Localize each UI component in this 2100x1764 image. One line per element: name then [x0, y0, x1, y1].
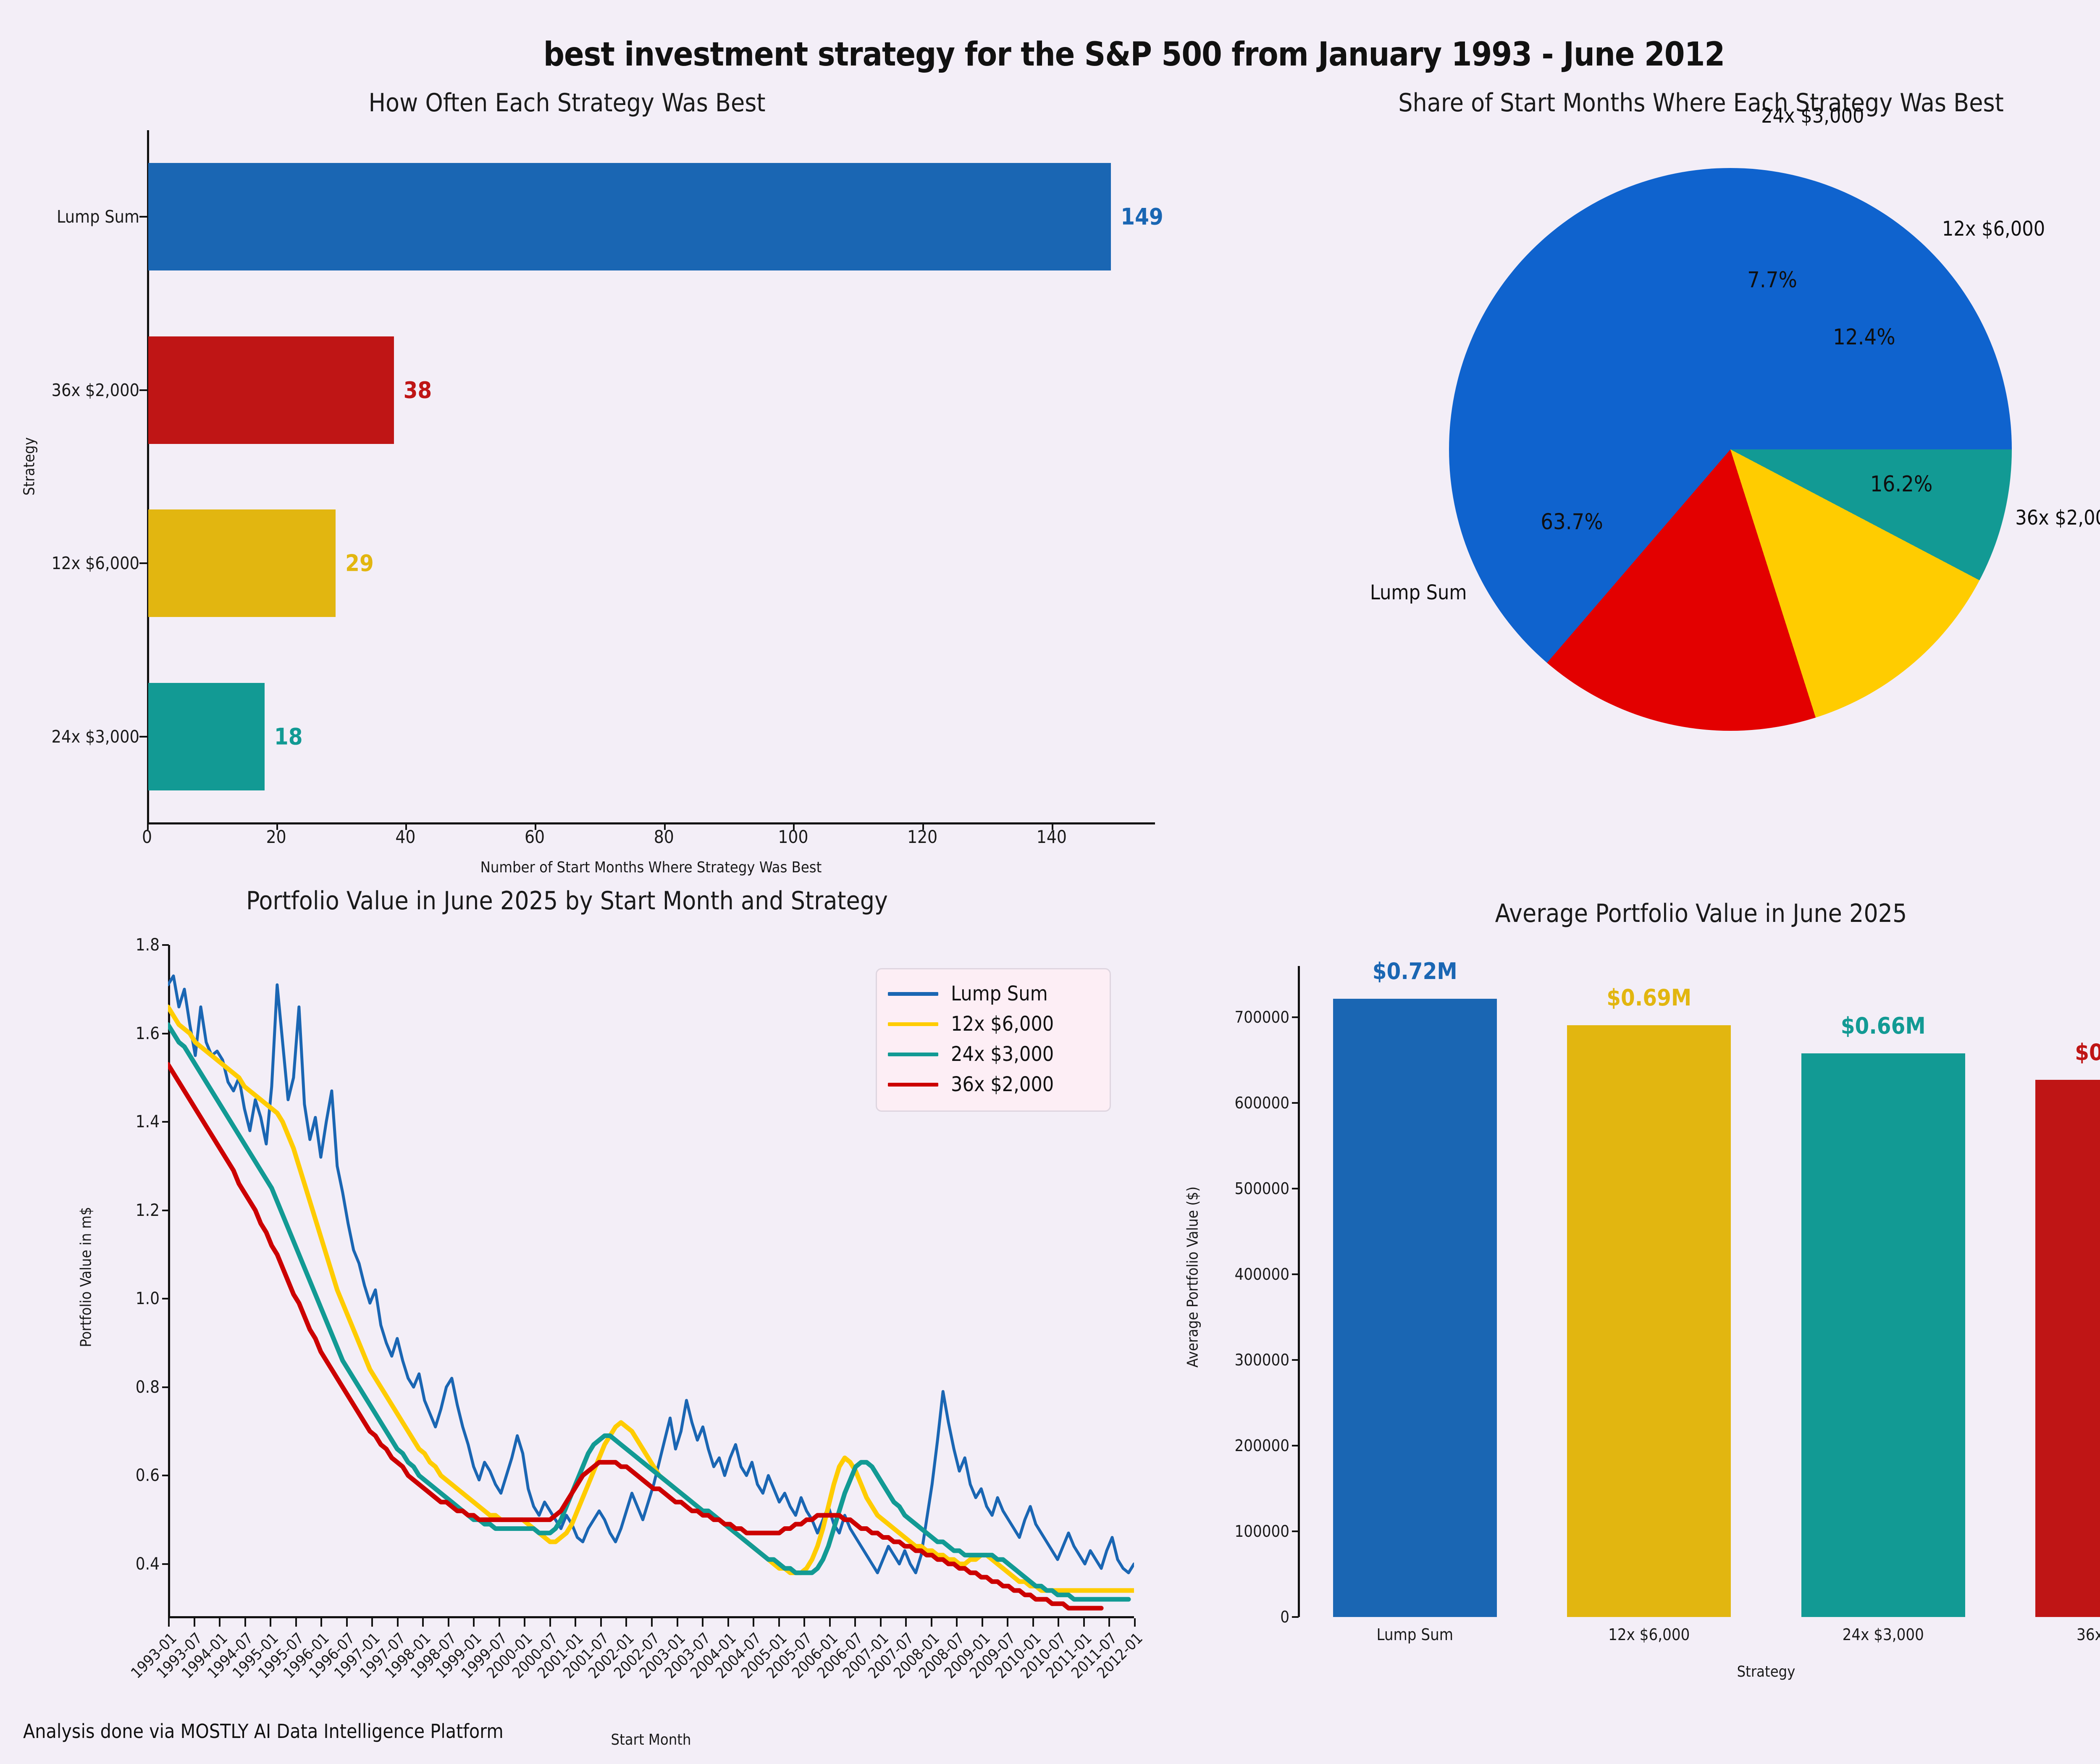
p3-x-tickmark [829, 1618, 831, 1627]
legend-item[interactable]: Lump Sum [888, 979, 1099, 1009]
p4-y-tick-label: 400000 [1155, 1265, 1289, 1284]
p3-x-tickmark [931, 1618, 932, 1627]
pie-percent-label: 16.2% [1870, 472, 1933, 497]
p4-y-tick-label: 100000 [1155, 1522, 1289, 1541]
p3-y-tickmark [162, 1386, 169, 1388]
p3-x-tickmark [575, 1618, 576, 1627]
p3-x-tickmark [1007, 1618, 1008, 1627]
p4-value-label: $0.63M [2075, 1039, 2100, 1066]
p4-y-tick-label: 200000 [1155, 1436, 1289, 1455]
p3-x-tickmark [880, 1618, 882, 1627]
p3-x-tickmark [803, 1618, 805, 1627]
p3-x-tickmark [194, 1618, 195, 1627]
p1-y-tickmark [139, 216, 147, 218]
p3-y-tick-label: 0.4 [113, 1554, 160, 1574]
p4-y-tick-label: 300000 [1155, 1351, 1289, 1369]
pie-percent-label: 63.7% [1541, 509, 1603, 535]
p1-category-label: 24x $3,000 [0, 727, 139, 747]
p4-y-tickmark [1292, 1530, 1299, 1532]
legend-color-swatch [888, 1022, 938, 1026]
p3-y-tick-label: 0.8 [113, 1378, 160, 1397]
p4-y-tick-label: 0 [1155, 1608, 1289, 1626]
pie-slice-label: 12x $6,000 [1942, 217, 2045, 241]
panel-share-of-start-months: Share of Start Months Where Each Strateg… [1134, 88, 2100, 886]
p1-x-tick-label: 140 [1037, 827, 1067, 847]
p4-value-label: $0.66M [1841, 1013, 1926, 1039]
p3-y-tickmark [162, 1563, 169, 1565]
pie-disc [1449, 168, 2012, 731]
p3-y-tick-label: 1.2 [113, 1201, 160, 1220]
p1-category-label: Lump Sum [0, 207, 139, 227]
legend-color-swatch [888, 992, 938, 996]
p1-bar [148, 683, 265, 790]
p3-x-tickmark [600, 1618, 602, 1627]
legend-label: Lump Sum [951, 982, 1048, 1005]
p3-x-tickmark [270, 1618, 271, 1627]
p3-x-tickmark [677, 1618, 678, 1627]
p3-x-tickmark [244, 1618, 246, 1627]
p4-y-tick-label: 700000 [1155, 1008, 1289, 1026]
p3-x-tickmark [168, 1618, 170, 1627]
p4-bar [2035, 1080, 2100, 1617]
p1-y-tickmark [139, 562, 147, 564]
p1-category-label: 12x $6,000 [0, 553, 139, 573]
legend-color-swatch [888, 1053, 938, 1056]
legend-item[interactable]: 24x $3,000 [888, 1039, 1099, 1069]
p3-x-tickmark [422, 1618, 424, 1627]
line-chart-legend[interactable]: Lump Sum12x $6,00024x $3,00036x $2,000 [876, 968, 1111, 1112]
p4-y-tickmark [1292, 1445, 1299, 1446]
p4-x-tick-label: 12x $6,000 [1608, 1625, 1690, 1644]
p3-x-tickmark [905, 1618, 907, 1627]
p3-x-tickmark [956, 1618, 958, 1627]
footer-note: Analysis done via MOSTLY AI Data Intelli… [23, 1720, 504, 1743]
p3-x-tickmark [499, 1618, 500, 1627]
p1-bar [148, 509, 336, 617]
p1-x-tick-label: 60 [525, 827, 545, 847]
legend-item[interactable]: 36x $2,000 [888, 1069, 1099, 1100]
p3-y-axis-label: Portfolio Value in m$ [78, 1151, 95, 1403]
pie-slice-label: Lump Sum [1370, 581, 1467, 604]
p3-x-tickmark [397, 1618, 399, 1627]
p3-x-tickmark [778, 1618, 780, 1627]
pie-chart [1449, 168, 2012, 731]
panel-avg-title: Average Portfolio Value in June 2025 [1134, 899, 2100, 928]
p1-y-tickmark [139, 389, 147, 391]
p3-y-tickmark [162, 1210, 169, 1211]
p3-x-tickmark [371, 1618, 373, 1627]
p1-value-label: 38 [404, 377, 432, 403]
p3-y-tickmark [162, 1298, 169, 1299]
p3-x-tickmark [1108, 1618, 1110, 1627]
p4-bar [1333, 999, 1497, 1617]
p4-y-tickmark [1292, 1359, 1299, 1361]
p4-y-tickmark [1292, 1616, 1299, 1618]
p1-value-label: 29 [345, 550, 374, 577]
figure-canvas: best investment strategy for the S&P 500… [0, 0, 2100, 1764]
p3-y-tick-label: 1.6 [113, 1024, 160, 1043]
p3-y-tick-label: 1.4 [113, 1112, 160, 1131]
p3-x-tickmark [727, 1618, 729, 1627]
p4-value-label: $0.72M [1373, 958, 1457, 984]
p3-x-tickmark [702, 1618, 703, 1627]
p1-bar [148, 163, 1111, 270]
figure-title: best investment strategy for the S&P 500… [0, 36, 2100, 73]
p4-bar [1801, 1053, 1965, 1617]
p3-x-tickmark [448, 1618, 449, 1627]
panel-pie-title: Share of Start Months Where Each Strateg… [1134, 88, 2100, 118]
p4-y-tickmark [1292, 1016, 1299, 1018]
panel-line-title: Portfolio Value in June 2025 by Start Mo… [0, 886, 1134, 916]
p3-x-tickmark [524, 1618, 525, 1627]
p3-y-tick-label: 1.0 [113, 1289, 160, 1308]
p4-bar [1567, 1025, 1731, 1617]
p3-x-tickmark [320, 1618, 322, 1627]
p3-x-tickmark [625, 1618, 627, 1627]
p3-x-tickmark [219, 1618, 220, 1627]
p4-x-tick-label: Lump Sum [1376, 1625, 1453, 1644]
pie-percent-label: 7.7% [1747, 268, 1797, 293]
p1-value-label: 18 [274, 723, 303, 750]
p3-x-tickmark [753, 1618, 754, 1627]
pie-slice-label: 36x $2,000 [2015, 506, 2100, 530]
panel-portfolio-value-by-start-month: Portfolio Value in June 2025 by Start Mo… [0, 874, 1134, 1764]
panel-count-title: How Often Each Strategy Was Best [0, 88, 1134, 118]
p3-x-tickmark [346, 1618, 348, 1627]
panel-how-often-each-strategy-was-best: How Often Each Strategy Was Best Strateg… [0, 88, 1134, 886]
p4-value-label: $0.69M [1606, 984, 1691, 1011]
p3-y-tickmark [162, 1475, 169, 1476]
p3-x-tickmark [549, 1618, 551, 1627]
p1-y-tickmark [139, 736, 147, 738]
p1-x-tick-label: 80 [654, 827, 674, 847]
p3-x-tickmark [982, 1618, 983, 1627]
p1-x-tick-label: 40 [395, 827, 415, 847]
p3-x-tickmark [1058, 1618, 1059, 1627]
p4-y-tick-label: 600000 [1155, 1094, 1289, 1112]
p3-y-tickmark [162, 1033, 169, 1034]
pie-percent-label: 12.4% [1833, 325, 1895, 350]
p1-x-tick-label: 20 [266, 827, 286, 847]
legend-color-swatch [888, 1083, 938, 1087]
p3-y-tickmark [162, 1121, 169, 1123]
pie-slice-label: 24x $3,000 [1761, 104, 1864, 128]
p1-x-tick-label: 100 [778, 827, 808, 847]
p3-x-tickmark [651, 1618, 653, 1627]
p3-x-tickmark [854, 1618, 856, 1627]
p1-category-label: 36x $2,000 [0, 380, 139, 400]
legend-label: 24x $3,000 [951, 1042, 1054, 1066]
line-series [168, 1064, 1101, 1608]
p4-y-tick-label: 500000 [1155, 1179, 1289, 1198]
legend-label: 12x $6,000 [951, 1012, 1054, 1036]
p3-x-tickmark [1032, 1618, 1034, 1627]
p3-y-tickmark [162, 944, 169, 946]
p3-x-tickmark [473, 1618, 475, 1627]
p3-x-tickmark [295, 1618, 297, 1627]
legend-item[interactable]: 12x $6,000 [888, 1009, 1099, 1039]
p4-x-axis-label: Strategy [1298, 1663, 2100, 1680]
p3-y-tick-label: 1.8 [113, 935, 160, 955]
p3-y-tick-label: 0.6 [113, 1466, 160, 1485]
p4-y-tickmark [1292, 1102, 1299, 1104]
p1-bar [148, 336, 394, 444]
p4-y-tickmark [1292, 1273, 1299, 1275]
p4-x-tick-label: 36x $2,000 [2076, 1625, 2100, 1644]
p3-x-tickmark [1083, 1618, 1085, 1627]
p4-x-tick-label: 24x $3,000 [1843, 1625, 1924, 1644]
p1-x-tick-label: 120 [907, 827, 937, 847]
legend-label: 36x $2,000 [951, 1073, 1054, 1096]
p1-x-tick-label: 0 [142, 827, 152, 847]
p4-y-tickmark [1292, 1188, 1299, 1189]
panel-average-portfolio-value: Average Portfolio Value in June 2025 Ave… [1134, 874, 2100, 1764]
